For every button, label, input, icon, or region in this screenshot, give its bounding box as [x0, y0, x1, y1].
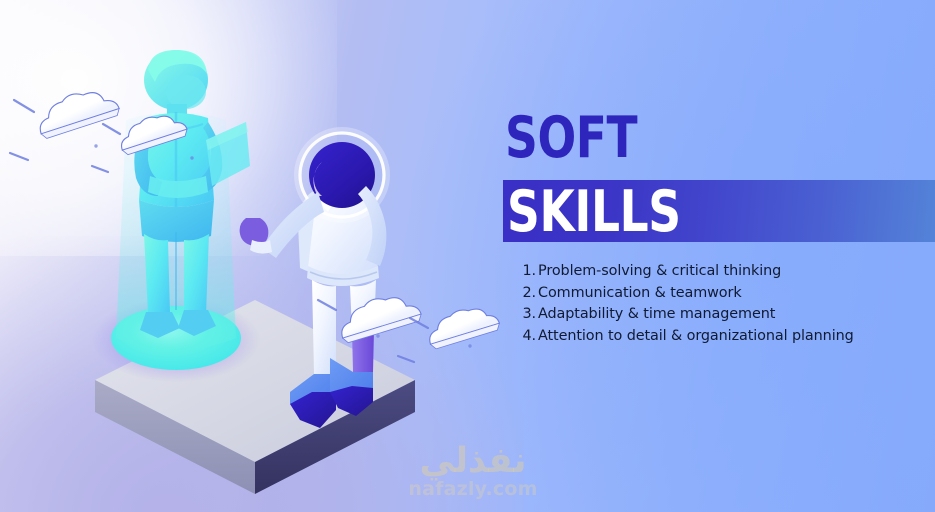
list-item-label: Adaptability & time management	[538, 304, 775, 326]
skills-list: 1.Problem-solving & critical thinking2.C…	[520, 261, 854, 347]
list-item-number: 4.	[520, 326, 536, 348]
list-item-number: 1.	[520, 261, 536, 283]
page-title-line1: SOFT	[505, 110, 637, 167]
list-item-label: Problem-solving & critical thinking	[538, 261, 781, 283]
cloud	[423, 300, 501, 350]
list-item-label: Attention to detail & organizational pla…	[538, 326, 854, 348]
page-title-line2: SKILLS	[507, 184, 681, 241]
isometric-illustration	[0, 0, 520, 512]
list-item-number: 2.	[520, 283, 536, 305]
list-item: 2.Communication & teamwork	[520, 283, 854, 305]
list-item: 1.Problem-solving & critical thinking	[520, 261, 854, 283]
list-item-label: Communication & teamwork	[538, 283, 742, 305]
cloud	[33, 82, 121, 140]
poster-canvas: SOFT SKILLS 1.Problem-solving & critical…	[0, 0, 935, 512]
list-item: 4.Attention to detail & organizational p…	[520, 326, 854, 348]
list-item-number: 3.	[520, 304, 536, 326]
list-item: 3.Adaptability & time management	[520, 304, 854, 326]
